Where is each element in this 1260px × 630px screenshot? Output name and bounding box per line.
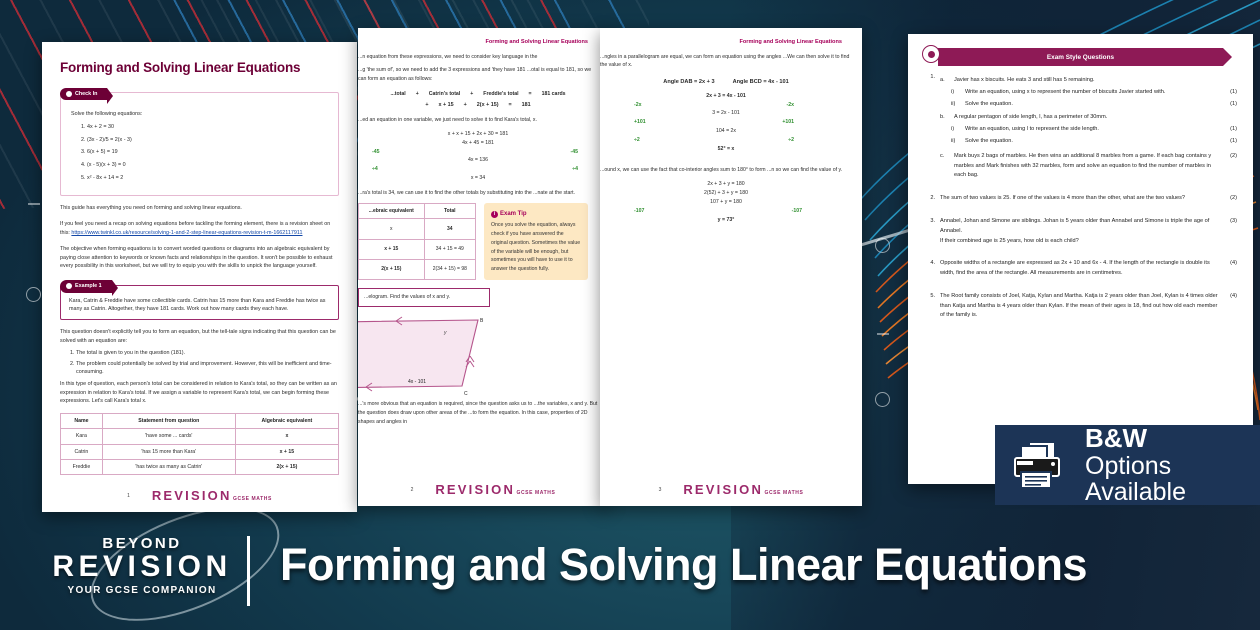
parallelogram-figure: B C y 3 4x - 101 [358, 312, 512, 398]
expr-cell: x + 15 [438, 101, 453, 110]
question-number: 4. [924, 259, 935, 279]
totals-table: ...ebraic equivalent Total x 34 x + 15 3… [358, 203, 476, 280]
exam-style-questions-bar: Exam Style Questions [938, 48, 1223, 66]
question-part: ii) Solve the equation.(1) [940, 100, 1237, 110]
question-number: 1. [924, 73, 935, 181]
page-footer: 2 REVISION GCSE MATHS [358, 482, 608, 497]
check-in-item: (3x - 2)/5 = 2(x - 3) [87, 136, 328, 144]
operation-label: -45 [571, 148, 579, 157]
question-number: 5. [924, 292, 935, 321]
operation-label: ÷2 [788, 136, 794, 145]
table-cell: x [235, 429, 338, 444]
intro-paragraph-1: This guide has everything you need on fo… [60, 204, 339, 212]
revision-logo: REVISION [152, 488, 232, 503]
reason-item: The problem could potentially be solved … [76, 360, 339, 377]
question-part: i) Write an equation, using l to represe… [940, 125, 1237, 135]
question-text: The sum of two values is 25. If one of t… [940, 194, 1185, 204]
check-in-box: Solve the following equations: 4x + 2 = … [60, 92, 339, 196]
angle-bcd-label: Angle BCD = 4x - 101 [733, 78, 789, 88]
working-line: 104 = 2x [600, 127, 852, 136]
page-footer: 3 REVISION GCSE MATHS [600, 482, 862, 497]
table-cell: x + 15 [359, 239, 425, 259]
check-icon [66, 91, 72, 97]
table-cell: 34 + 15 = 49 [424, 239, 475, 259]
angle-label-y: y [443, 330, 447, 336]
table-cell: 2(34 + 15) = 98 [424, 259, 475, 279]
banner-divider [247, 536, 250, 606]
page-number: 1 [127, 493, 130, 499]
table-header-row: ...ebraic equivalent Total [359, 203, 476, 219]
operation-label: ÷4 [572, 165, 578, 174]
page-header: Forming and Solving Linear Equations [358, 38, 598, 48]
expr-cell: = [529, 90, 532, 99]
working-line: 2x + 3 + y = 180 [600, 180, 852, 189]
table-cell: 2(x + 15) [235, 459, 338, 474]
intro-paragraph-3: The objective when forming equations is … [60, 245, 339, 270]
working-line: 3 = 2x - 101 [600, 109, 852, 118]
vertex-label-b: B [480, 318, 484, 324]
operation-label: -2x [787, 101, 795, 110]
table-row: Kara 'have some ... cards' x [61, 429, 339, 444]
table-header-row: Name Statement from question Algebraic e… [61, 414, 339, 429]
revision-subject: GCSE MATHS [764, 490, 803, 496]
question-2: 2. The sum of two values is 25. If one o… [924, 194, 1237, 204]
expr-cell: 2(x + 15) [477, 101, 499, 110]
expr-cell: + [470, 90, 473, 99]
check-in-prompt: Solve the following equations: [71, 105, 328, 118]
table-header-cell: Name [61, 414, 103, 429]
question-part: ii) Solve the equation.(1) [940, 137, 1237, 147]
working-line: x + x + 15 + 2x + 30 = 181 [358, 130, 598, 139]
table-cell: x + 15 [235, 444, 338, 459]
paragraph: ...g 'the sum of', so we need to add the… [358, 66, 598, 84]
worksheet-page-2[interactable]: Forming and Solving Linear Equations ...… [358, 28, 608, 506]
question-text: Opposite widths of a rectangle are expre… [940, 259, 1222, 279]
printer-icon [1013, 440, 1071, 490]
table-cell: Freddie [61, 459, 103, 474]
page-header: Forming and Solving Linear Equations [600, 38, 852, 48]
parallelogram-svg: B C y 3 4x - 101 [358, 312, 522, 398]
table-header-cell: Statement from question [102, 414, 235, 429]
operation-label: ÷2 [634, 136, 640, 145]
paragraph: ...'s more obvious that an equation is r… [358, 400, 598, 427]
question-1: 1. a. Javier has x biscuits. He eats 3 a… [924, 73, 1237, 181]
marks: (4) [1230, 259, 1237, 279]
decorative-dash-2 [28, 203, 40, 205]
table-cell: Kara [61, 429, 103, 444]
expr-cell: = [509, 101, 512, 110]
revision-subject: GCSE MATHS [516, 490, 555, 496]
marks: (3) [1230, 217, 1237, 246]
page-number: 2 [411, 487, 414, 493]
expr-cell: 181 cards [542, 90, 566, 99]
table-cell: 'has twice as many as Catrin' [102, 459, 235, 474]
question-number: 2. [924, 194, 935, 204]
decorative-ring-1 [875, 238, 890, 253]
expr-cell: Freddie's total [483, 90, 518, 99]
worksheet-page-1[interactable]: Forming and Solving Linear Equations Che… [42, 42, 357, 512]
expr-cell: 181 [522, 101, 531, 110]
decorative-ring-2 [875, 392, 890, 407]
revision-logo: REVISION [435, 482, 515, 497]
decorative-ring-3 [26, 287, 41, 302]
worksheet-page-3[interactable]: Forming and Solving Linear Equations ...… [600, 28, 862, 506]
check-in-item: 6(x + 5) = 19 [87, 148, 328, 156]
working-line: 4x = 136 [358, 156, 598, 165]
check-in-item: x² - 8x + 14 = 2 [87, 174, 328, 182]
table-header-cell: ...ebraic equivalent [359, 203, 425, 219]
table-cell: 34 [424, 219, 475, 239]
worksheet-page-exam-questions[interactable]: Exam Style Questions 1. a. Javier has x … [908, 34, 1253, 484]
expr-cell: ...total [390, 90, 405, 99]
table-cell: 'has 15 more than Kara' [102, 444, 235, 459]
paragraph: ...n equation from these expressions, we… [358, 53, 598, 62]
table-header-cell: Algebraic equivalent [235, 414, 338, 429]
page-number: 3 [659, 487, 662, 493]
table-row: Catrin 'has 15 more than Kara' x + 15 [61, 444, 339, 459]
question-part: i) Write an equation, using x to represe… [940, 88, 1237, 98]
working-line: 2(52) + 3 + y = 180 [600, 189, 852, 198]
explanation-paragraph: This question doesn't explicitly tell yo… [60, 328, 339, 345]
logo-beyond-text: BEYOND [52, 536, 232, 551]
question-4: 4. Opposite widths of a rectangle are ex… [924, 259, 1237, 279]
decorative-dash-1 [877, 333, 889, 335]
question-part: a. Javier has x biscuits. He eats 3 and … [940, 76, 1237, 86]
table-cell: 'have some ... cards' [102, 429, 235, 444]
expressions-table: Name Statement from question Algebraic e… [60, 413, 339, 474]
working-line: x = 34 [358, 174, 598, 183]
working-line: 52° = x [600, 145, 852, 154]
table-row: x + 15 34 + 15 = 49 [359, 239, 476, 259]
operation-label: +101 [782, 118, 794, 127]
bw-subtitle: Options Available [1085, 453, 1260, 505]
bw-options-badge: B&W Options Available [995, 425, 1260, 505]
logo-tagline: YOUR GCSE COMPANION [52, 585, 232, 596]
working-line: y = 73° [600, 216, 852, 225]
operation-label: +101 [634, 118, 646, 127]
exam-tip-box: iExam Tip Once you solve the equation, a… [484, 203, 588, 280]
table-header-cell: Total [424, 203, 475, 219]
check-in-item: 4x + 2 = 30 [87, 123, 328, 131]
angle-label-4x-101: 4x - 101 [408, 379, 426, 385]
paragraph: ...ngles in a parallelogram are equal, w… [600, 53, 852, 71]
question-text: Annabel, Johan and Simone are siblings. … [940, 217, 1222, 246]
check-in-list: 4x + 2 = 30 (3x - 2)/5 = 2(x - 3) 6(x + … [87, 123, 328, 183]
question-3: 3. Annabel, Johan and Simone are sibling… [924, 217, 1237, 246]
page-footer: 1 REVISION GCSE MATHS [42, 488, 357, 503]
vertex-label-c: C [464, 391, 468, 397]
working-line: 2x + 3 = 4x - 101 [600, 92, 852, 101]
check-in-item: (x - 5)(x + 3) = 0 [87, 161, 328, 169]
reason-list: The total is given to you in the questio… [76, 349, 339, 376]
table-row: 2(x + 15) 2(34 + 15) = 98 [359, 259, 476, 279]
question-5: 5. The Root family consists of Joel, Kat… [924, 292, 1237, 321]
bw-title: B&W [1085, 425, 1260, 452]
exam-tip-header: iExam Tip [491, 209, 581, 219]
working-line: 107 + y = 180 [600, 198, 852, 207]
paragraph: ...ound x, we can use the fact that co-i… [600, 166, 852, 175]
example-2-box: ...elogram. Find the values of x and y. [358, 288, 490, 307]
exam-tip-text: Once you solve the equation, always chec… [491, 221, 581, 274]
revision-logo: REVISION [683, 482, 763, 497]
expr-cell: + [425, 101, 428, 110]
explanation-paragraph-2: In this type of question, each person's … [60, 380, 339, 405]
table-cell: Catrin [61, 444, 103, 459]
question-text: The Root family consists of Joel, Katja,… [940, 292, 1222, 321]
example-badge: Example 1 [60, 280, 112, 292]
operation-label: -45 [372, 148, 380, 157]
target-icon [922, 45, 940, 63]
beyond-revision-logo: BEYOND REVISION YOUR GCSE COMPANION [52, 536, 232, 596]
banner-title: Forming and Solving Linear Equations [280, 539, 1087, 591]
marks: (4) [1230, 292, 1237, 321]
operation-label: -107 [634, 207, 644, 216]
question-part: b. A regular pentagon of side length, l,… [940, 113, 1237, 123]
intro-paragraph-2: If you feel you need a recap on solving … [60, 220, 339, 237]
working-line: 4x + 45 = 181 [358, 139, 598, 148]
lightbulb-icon [66, 283, 72, 289]
revision-sheet-link[interactable]: https://www.twinkl.co.uk/resource/solvin… [71, 230, 302, 236]
info-icon: i [491, 211, 498, 218]
paragraph: ...ed an equation in one variable, we ju… [358, 116, 598, 125]
operation-label: -107 [792, 207, 802, 216]
expr-cell: + [416, 90, 419, 99]
paragraph: ...ra's total is 34, we can use it to fi… [358, 189, 598, 198]
question-part: c. Mark buys 2 bags of marbles. He then … [940, 152, 1237, 181]
table-cell: 2(x + 15) [359, 259, 425, 279]
question-number: 3. [924, 217, 935, 246]
reason-item: The total is given to you in the questio… [76, 349, 339, 357]
table-row: x 34 [359, 219, 476, 239]
expr-cell: Catrin's total [429, 90, 461, 99]
operation-label: ÷4 [372, 165, 378, 174]
table-row: Freddie 'has twice as many as Catrin' 2(… [61, 459, 339, 474]
page-title: Forming and Solving Linear Equations [60, 58, 339, 79]
marks: (2) [1230, 194, 1237, 204]
bottom-banner: BEYOND REVISION YOUR GCSE COMPANION Form… [0, 512, 1260, 630]
check-in-badge: Check In [60, 88, 107, 100]
angle-dab-label: Angle DAB = 2x + 3 [663, 78, 714, 88]
logo-revision-text: REVISION [52, 551, 232, 583]
operation-label: -2x [634, 101, 642, 110]
revision-subject: GCSE MATHS [233, 496, 272, 502]
table-cell: x [359, 219, 425, 239]
expr-cell: + [464, 101, 467, 110]
